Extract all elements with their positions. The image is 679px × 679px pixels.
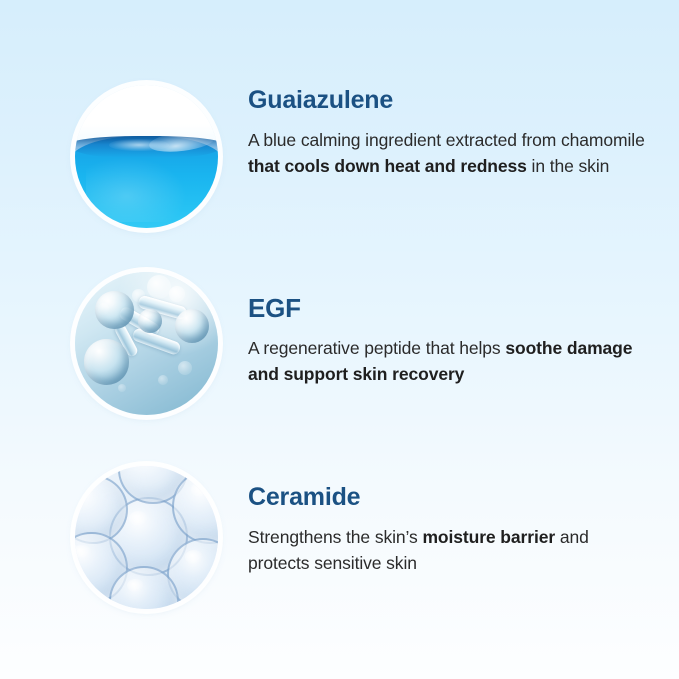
ingredient-title-egf: EGF: [248, 294, 648, 323]
ingredient-row-guaiazulene: Guaiazulene A blue calming ingredient ex…: [0, 85, 679, 228]
bokeh-circle: [169, 286, 185, 302]
desc-segment: in the skin: [527, 156, 609, 176]
ingredient-row-ceramide: Ceramide Strengthens the skin’s moisture…: [0, 466, 679, 609]
water-foam-highlight: [109, 139, 169, 150]
ingredient-copy: EGF A regenerative peptide that helps so…: [248, 272, 648, 388]
ingredient-description-egf: A regenerative peptide that helps soothe…: [248, 335, 648, 388]
ingredient-title-ceramide: Ceramide: [248, 484, 648, 512]
bubbles-photo: [75, 466, 218, 609]
ingredient-title-guaiazulene: Guaiazulene: [248, 87, 648, 115]
desc-segment-bold: moisture barrier: [422, 527, 555, 547]
ingredient-description-guaiazulene: A blue calming ingredient extracted from…: [248, 127, 648, 180]
desc-segment: A regenerative peptide that helps: [248, 338, 505, 358]
bokeh-circle: [147, 275, 171, 299]
molecule-photo: [75, 272, 218, 415]
ingredient-copy: Ceramide Strengthens the skin’s moisture…: [248, 466, 648, 577]
ingredients-infographic: Guaiazulene A blue calming ingredient ex…: [0, 0, 679, 679]
desc-segment: A blue calming ingredient extracted from…: [248, 130, 645, 150]
molecule-atom: [84, 339, 130, 385]
desc-segment: Strengthens the skin’s: [248, 527, 422, 547]
ingredient-description-ceramide: Strengthens the skin’s moisture barrier …: [248, 524, 648, 577]
water-glow: [86, 157, 186, 223]
molecule-atom: [95, 291, 134, 330]
desc-segment-bold: that cools down heat and redness: [248, 156, 527, 176]
water-surface-photo: [75, 85, 218, 228]
bokeh-circle: [158, 375, 168, 385]
bokeh-circle: [178, 361, 192, 375]
ingredient-copy: Guaiazulene A blue calming ingredient ex…: [248, 85, 648, 180]
ingredient-row-egf: EGF A regenerative peptide that helps so…: [0, 272, 679, 415]
